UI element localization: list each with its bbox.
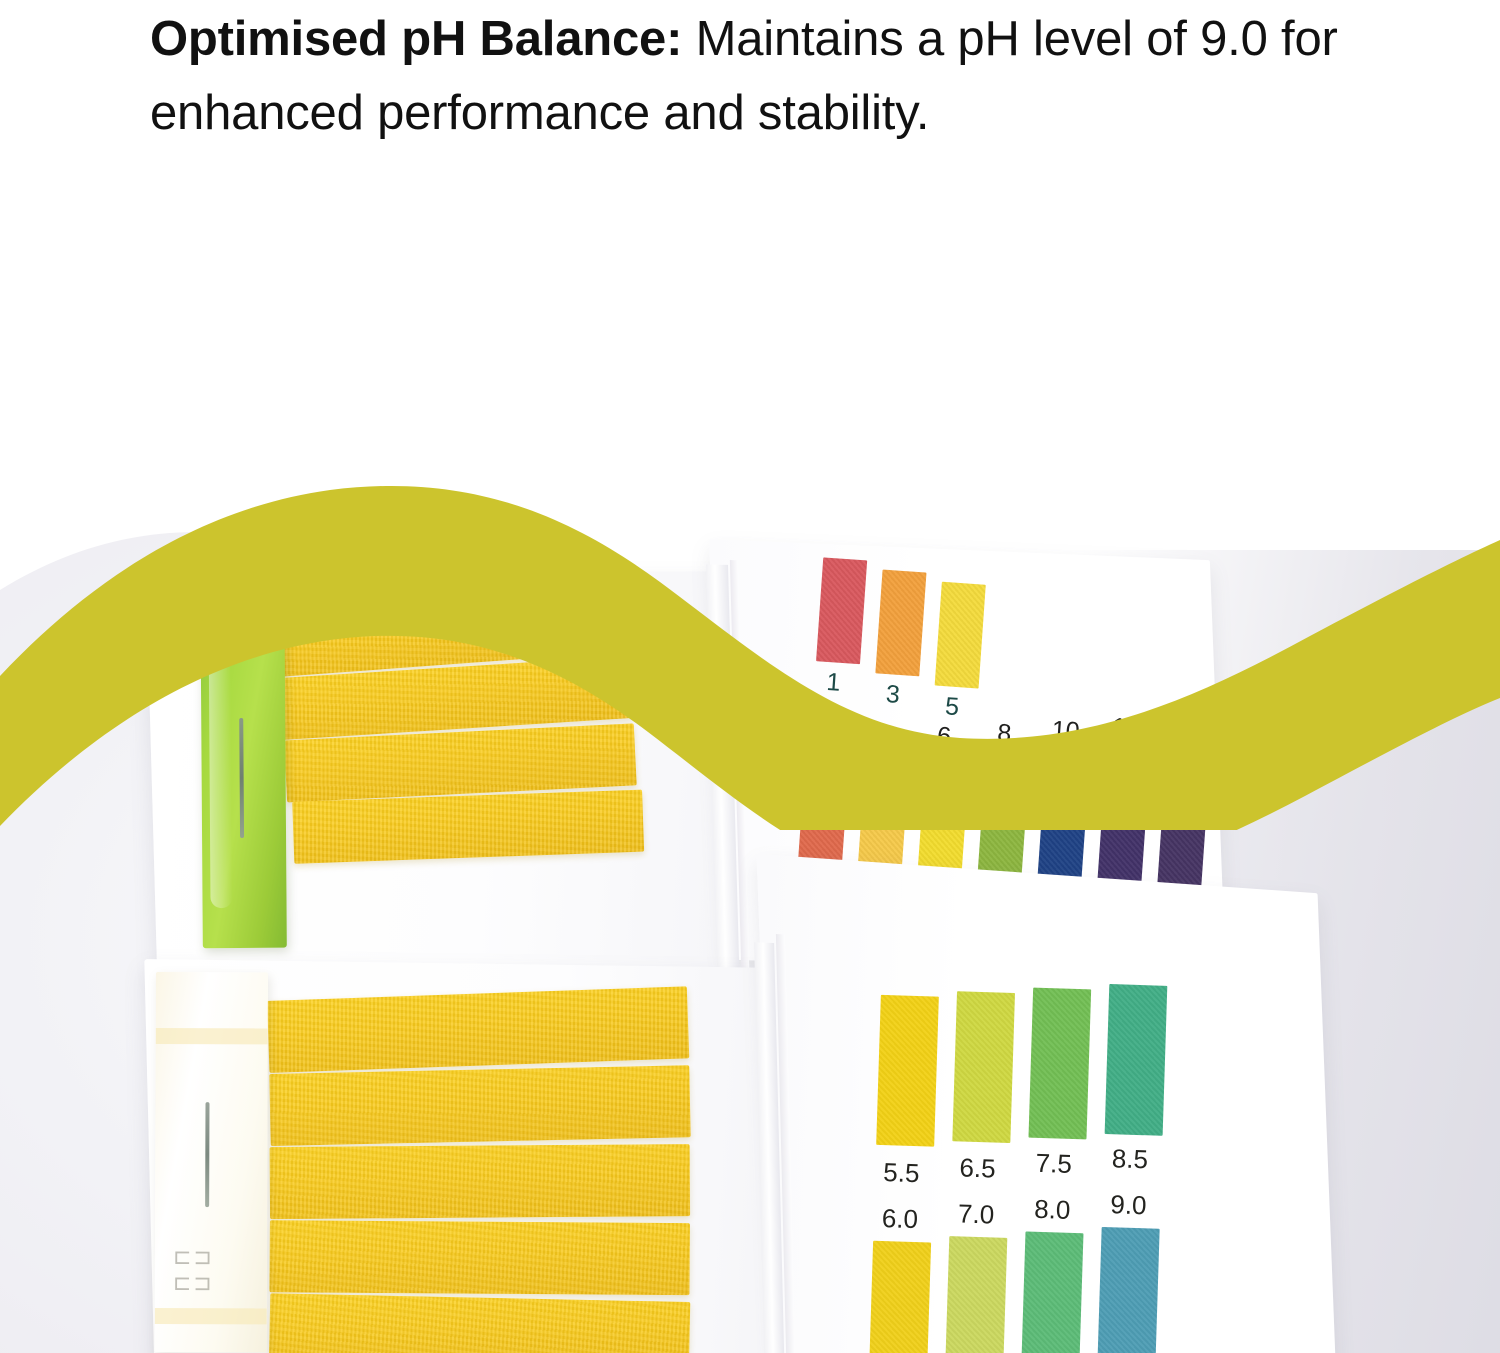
ph-label: 8.5 bbox=[1111, 1143, 1148, 1175]
ph-swatch bbox=[868, 1241, 931, 1353]
ph-swatch bbox=[1097, 743, 1151, 896]
ph-swatch bbox=[816, 557, 867, 664]
ph-label: 1 bbox=[826, 668, 842, 698]
ph-swatch bbox=[1157, 740, 1211, 893]
litmus-strip bbox=[269, 1220, 689, 1295]
ph-swatch bbox=[1020, 1232, 1083, 1353]
ph-swatch bbox=[952, 991, 1015, 1143]
ph-swatch bbox=[876, 995, 939, 1147]
ph-label: 5.5 bbox=[883, 1157, 920, 1189]
ph-label: 9.0 bbox=[1110, 1189, 1147, 1221]
cover-band bbox=[155, 1308, 267, 1324]
ph-label: 12 bbox=[1111, 713, 1141, 744]
staple-icon bbox=[239, 718, 244, 838]
ph-label: 2 bbox=[815, 727, 831, 757]
ph-swatch bbox=[1105, 984, 1168, 1136]
cover-band bbox=[156, 1028, 268, 1044]
ph-swatch bbox=[935, 582, 986, 689]
ph-label: 7.5 bbox=[1035, 1148, 1072, 1180]
litmus-strip bbox=[269, 1065, 690, 1146]
ph-label: 6.5 bbox=[959, 1152, 996, 1184]
tab-gloss-highlight bbox=[209, 628, 233, 908]
product-photo: 1 3 5 2 4 6 8 10 12 bbox=[0, 430, 1500, 1353]
ph-label: 3 bbox=[885, 680, 901, 710]
ph-swatch bbox=[1097, 1227, 1160, 1353]
ph-chart-lower: 5.5 6.5 7.5 8.5 6.0 7.0 8.0 9.0 bbox=[854, 994, 1296, 1353]
cover-print-marks: ⊏⊐⊏⊐ bbox=[173, 1244, 231, 1298]
ph-label: 10 bbox=[1051, 716, 1081, 747]
ph-swatch bbox=[944, 1236, 1007, 1353]
booklet-cream-cover: ⊏⊐⊏⊐ bbox=[155, 972, 268, 1352]
ph-label: 8.0 bbox=[1034, 1194, 1071, 1226]
ph-label: 6.0 bbox=[881, 1203, 918, 1235]
litmus-strip bbox=[269, 1293, 690, 1353]
ph-label: 8 bbox=[996, 719, 1012, 749]
ph-label: 7.0 bbox=[958, 1198, 995, 1230]
page-title: Optimised pH Balance: Maintains a pH lev… bbox=[150, 2, 1380, 151]
litmus-strip bbox=[292, 790, 644, 864]
ph-label: 4 bbox=[876, 725, 892, 755]
staple-icon bbox=[205, 1102, 209, 1207]
ph-swatch bbox=[875, 570, 926, 677]
ph-label: 5 bbox=[944, 692, 960, 722]
ph-swatch bbox=[1028, 988, 1091, 1140]
ph-label: 6 bbox=[936, 722, 952, 752]
product-feature-panel: Optimised pH Balance: Maintains a pH lev… bbox=[0, 0, 1500, 1353]
ph-booklet-lower: ⊏⊐⊏⊐ 5.5 6.5 7.5 8.5 6.0 7.0 8.0 9.0 bbox=[114, 936, 1305, 1353]
litmus-strip bbox=[270, 1144, 690, 1219]
headline-lead: Optimised pH Balance: bbox=[150, 12, 682, 66]
booklet-green-cover-tab bbox=[200, 598, 286, 949]
litmus-strip bbox=[267, 986, 689, 1073]
